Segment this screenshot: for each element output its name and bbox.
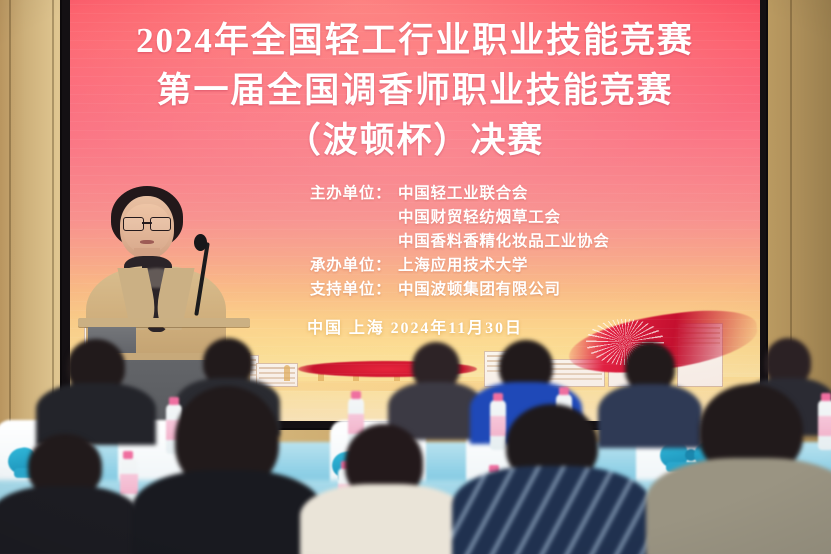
- podium-top: [78, 318, 250, 327]
- organizer-label: 承办单位：: [310, 254, 398, 278]
- audience-body: [0, 486, 140, 554]
- organizer-row: 主办单位：中国财贸轻纺烟草工会: [310, 206, 610, 230]
- audience-member: [0, 434, 140, 554]
- microphone-icon: [194, 234, 207, 251]
- organizer-value: 中国波顿集团有限公司: [398, 281, 561, 298]
- organizer-row: 主办单位：中国香料香精化妆品工业协会: [310, 230, 610, 254]
- backdrop-title-line-1: 2024年全国轻工行业职业技能竞赛: [70, 12, 760, 63]
- glasses-icon: [123, 217, 171, 229]
- organizer-value: 中国财贸轻纺烟草工会: [398, 209, 561, 226]
- organizer-row: 主办单位：中国轻工业联合会: [310, 182, 610, 206]
- speaker-mouth: [140, 240, 154, 244]
- organizer-block: 主办单位：中国轻工业联合会 主办单位：中国财贸轻纺烟草工会 主办单位：中国香料香…: [310, 182, 610, 302]
- audience-body: [132, 470, 322, 554]
- backdrop-title-line-3: （波顿杯）决赛: [70, 112, 760, 163]
- audience-member: [300, 424, 468, 554]
- backdrop-title-line-2: 第一届全国调香师职业技能竞赛: [70, 62, 760, 113]
- organizer-row: 支持单位：中国波顿集团有限公司: [310, 278, 610, 302]
- audience-member: [452, 404, 652, 554]
- audience-member: [646, 384, 831, 554]
- audience-foreground: [0, 339, 831, 554]
- audience-body: [452, 466, 652, 554]
- audience-member: [132, 386, 322, 554]
- conference-photo: 2024年全国轻工行业职业技能竞赛 第一届全国调香师职业技能竞赛 （波顿杯）决赛…: [0, 0, 831, 554]
- audience-body: [646, 458, 831, 554]
- organizer-label: 主办单位：: [310, 182, 398, 206]
- organizer-value: 中国香料香精化妆品工业协会: [398, 233, 610, 250]
- organizer-value: 中国轻工业联合会: [398, 185, 528, 202]
- organizer-value: 上海应用技术大学: [398, 257, 528, 274]
- audience-body: [300, 484, 468, 554]
- organizer-label: 支持单位：: [310, 278, 398, 302]
- organizer-row: 承办单位：上海应用技术大学: [310, 254, 610, 278]
